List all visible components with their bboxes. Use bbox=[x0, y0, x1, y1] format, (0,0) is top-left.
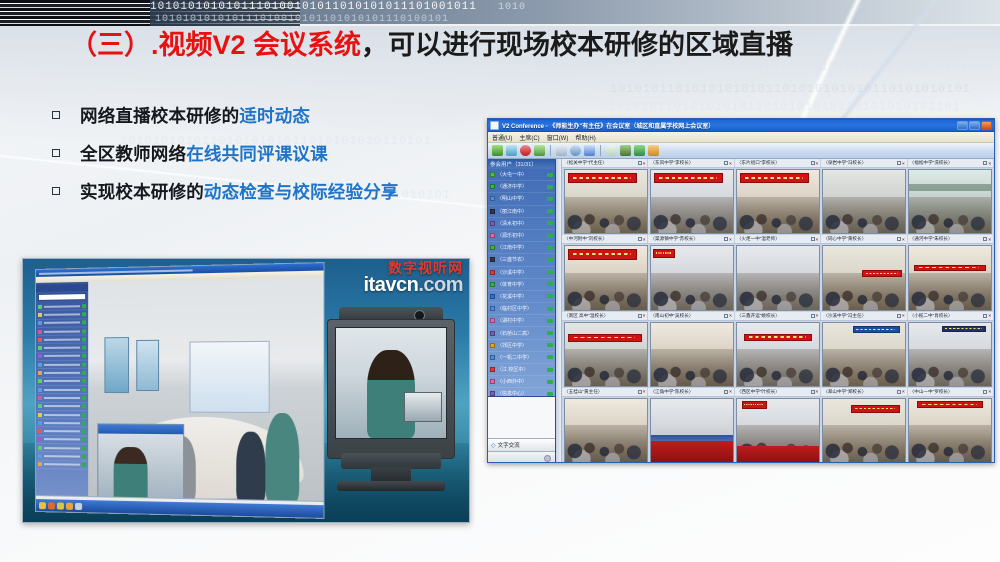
video-tab[interactable]: 〈小榄二中"肖校长〉× bbox=[908, 312, 994, 320]
photo-monitor-pip bbox=[404, 392, 442, 422]
list-item[interactable]: 〈三盛节农〉 bbox=[488, 254, 555, 266]
camera-icon bbox=[547, 355, 553, 359]
photo-poster-a bbox=[104, 337, 129, 393]
video-cell[interactable] bbox=[822, 398, 906, 463]
restore-icon[interactable] bbox=[811, 161, 815, 165]
video-cell[interactable] bbox=[822, 322, 906, 387]
list-item[interactable]: 〈清水初中〉 bbox=[488, 218, 555, 230]
video-cell[interactable] bbox=[650, 245, 734, 310]
square-bullet-icon bbox=[52, 187, 60, 195]
status-dot-icon bbox=[490, 270, 495, 275]
restore-icon[interactable] bbox=[983, 161, 987, 165]
list-item: 网络直播校本研修的适时动态 bbox=[52, 96, 522, 134]
square-bullet-icon bbox=[52, 111, 60, 119]
menu-item-chair[interactable]: 主席(C) bbox=[519, 133, 539, 142]
watermark-english: itavcn.com bbox=[364, 275, 464, 295]
list-item[interactable]: 〈源乐初中〉 bbox=[488, 230, 555, 242]
camera-icon bbox=[547, 294, 553, 298]
participant-label: 〈湖村中学〉 bbox=[497, 317, 545, 324]
restore-icon[interactable] bbox=[724, 161, 728, 165]
close-icon[interactable]: × bbox=[816, 313, 819, 318]
list-item[interactable]: 〈临村区中学〉 bbox=[488, 303, 555, 315]
list-item[interactable]: 〈大屯一中〉 bbox=[488, 169, 555, 181]
participant-label: 〈通济中学〉 bbox=[497, 183, 545, 190]
restore-icon[interactable] bbox=[724, 314, 728, 318]
minimize-icon[interactable] bbox=[957, 121, 968, 130]
cell-tab-strip[interactable]: 〈五桂山"黄主任〉× 〈江角中学"陈校长〉× 〈西区中学"叶校长〉× 〈翠山中学… bbox=[562, 388, 994, 397]
video-tab[interactable]: 〈南山初中"吴校长〉× bbox=[648, 312, 734, 320]
video-cell-row bbox=[562, 244, 994, 311]
slide-root: 1010101010101110100101011010101011101001… bbox=[0, 0, 1000, 562]
video-tab[interactable]: 〈江角中学"陈校长〉× bbox=[648, 388, 734, 396]
close-icon[interactable]: × bbox=[988, 313, 991, 318]
video-tab[interactable]: 〈中河附中"刘校长〉× bbox=[562, 235, 648, 243]
participant-label: 〈郊区中学〉 bbox=[497, 342, 545, 349]
zoom-icon[interactable] bbox=[570, 145, 581, 156]
info-icon[interactable] bbox=[584, 145, 595, 156]
participant-label: 〈江 校区中〉 bbox=[497, 366, 545, 373]
close-icon[interactable]: × bbox=[643, 313, 646, 318]
video-grid-wrapper: 〈松关中学"代主任〉× 〈东风中学"李校长〉× 〈东片组口"李校长〉× 〈泉岩中… bbox=[556, 159, 994, 463]
close-icon[interactable]: × bbox=[643, 237, 646, 242]
restore-icon[interactable] bbox=[638, 314, 642, 318]
status-dot-icon bbox=[490, 318, 495, 323]
photo-participant-panel bbox=[36, 282, 88, 514]
video-grid: 〈松关中学"代主任〉× 〈东风中学"李校长〉× 〈东片组口"李校长〉× 〈泉岩中… bbox=[562, 159, 994, 463]
camera-icon bbox=[547, 368, 553, 372]
camera-icon bbox=[547, 197, 553, 201]
participant-label: 〈一机二中学〉 bbox=[497, 354, 545, 361]
home-icon[interactable] bbox=[492, 145, 503, 156]
video-cell[interactable] bbox=[908, 245, 992, 310]
list-item[interactable]: 〈丽江南中〉 bbox=[488, 206, 555, 218]
restore-icon[interactable] bbox=[897, 314, 901, 318]
menu-item-help[interactable]: 帮助(H) bbox=[575, 133, 595, 142]
status-dot-icon bbox=[490, 184, 495, 189]
restore-icon[interactable] bbox=[638, 237, 642, 241]
camera-icon bbox=[547, 343, 553, 347]
camera-icon bbox=[547, 221, 553, 225]
video-cell[interactable] bbox=[736, 398, 820, 463]
video-cell[interactable] bbox=[736, 169, 820, 234]
status-indicator-icon bbox=[544, 455, 551, 462]
list-item[interactable]: 〈通济中学〉 bbox=[488, 181, 555, 193]
share-icon[interactable] bbox=[634, 145, 645, 156]
list-item[interactable]: 〈石桥山二高〉 bbox=[488, 327, 555, 339]
slide-title-dark: ，可以进行现场校本研修的区域直播 bbox=[361, 30, 793, 60]
status-dot-icon bbox=[490, 196, 495, 201]
app-body: 参会用户（31/31） 〈大屯一中〉 〈通济中学〉 〈明山中学〉 〈丽江南中〉 … bbox=[488, 159, 994, 463]
participant-label: 〈三盛节农〉 bbox=[497, 256, 545, 263]
bullet-plain: 网络直播校本研修的 bbox=[80, 106, 239, 126]
participant-label: 〈源乐初中〉 bbox=[497, 232, 545, 239]
camera-icon bbox=[547, 380, 553, 384]
camera-icon bbox=[547, 258, 553, 262]
status-dot-icon bbox=[490, 379, 495, 384]
video-cell[interactable] bbox=[736, 322, 820, 387]
camera-icon bbox=[547, 185, 553, 189]
window-title-bar[interactable]: V2 Conference - 《师能生办"有主任》在会议室（城区和直属学校网上… bbox=[488, 119, 994, 132]
camera-icon[interactable] bbox=[620, 145, 631, 156]
video-tab[interactable]: 〈东片组口"李校长〉× bbox=[735, 159, 821, 167]
video-cell[interactable] bbox=[564, 245, 648, 310]
photo-pip-window bbox=[97, 424, 184, 505]
participant-label: 〈大屯一中〉 bbox=[497, 171, 545, 178]
status-dot-icon bbox=[490, 245, 495, 250]
participant-label: 〈沙溪中学〉 bbox=[497, 269, 545, 276]
video-cell[interactable] bbox=[822, 245, 906, 310]
camera-icon bbox=[547, 246, 553, 250]
app-icon bbox=[490, 121, 499, 130]
camera-icon bbox=[547, 234, 553, 238]
watermark-site: itavcn bbox=[364, 274, 419, 296]
list-item[interactable]: 〈小西外中〉 bbox=[488, 376, 555, 388]
tab-text-chat-label: 文字交流 bbox=[498, 441, 520, 449]
grid-row: 〈南区 高中"温校长〉× 〈南山初中"吴校长〉× 〈三鑫开运"姚校长〉× 〈沙溪… bbox=[562, 312, 994, 388]
participant-label: 〈江南中学〉 bbox=[497, 244, 545, 251]
sidebar-footer bbox=[488, 451, 555, 463]
split-icon[interactable] bbox=[556, 145, 567, 156]
close-icon[interactable]: × bbox=[902, 313, 905, 318]
video-tab[interactable]: 〈渠源镇中学"苏校长〉× bbox=[648, 235, 734, 243]
video-cell[interactable] bbox=[564, 169, 648, 234]
menu-item-normal[interactable]: 普通(U) bbox=[492, 133, 512, 142]
video-cell-row bbox=[562, 321, 994, 388]
participants-header: 参会用户（31/31） bbox=[488, 159, 555, 169]
restore-icon[interactable] bbox=[811, 314, 815, 318]
restore-icon[interactable] bbox=[638, 390, 642, 394]
restore-icon[interactable] bbox=[983, 390, 987, 394]
background-stripe-block bbox=[0, 0, 300, 26]
photo-software-window bbox=[35, 262, 325, 519]
video-cell[interactable] bbox=[650, 169, 734, 234]
video-tab[interactable]: 〈东风中学"李校长〉× bbox=[648, 159, 734, 167]
close-icon[interactable]: × bbox=[902, 389, 905, 394]
list-item: 实现校本研修的动态检查与校际经验分享 bbox=[52, 172, 522, 210]
record-icon[interactable] bbox=[520, 145, 531, 156]
square-bullet-icon bbox=[52, 149, 60, 157]
close-icon[interactable]: × bbox=[643, 389, 646, 394]
bullet-plain: 实现校本研修的 bbox=[80, 182, 204, 202]
video-tab[interactable]: 〈五桂山"黄主任〉× bbox=[562, 388, 648, 396]
status-dot-icon bbox=[490, 221, 495, 226]
video-cell[interactable] bbox=[650, 398, 734, 463]
bullet-text: 实现校本研修的动态检查与校际经验分享 bbox=[80, 179, 399, 204]
settings-icon[interactable] bbox=[648, 145, 659, 156]
photo-monitor-foot bbox=[337, 481, 445, 491]
close-icon[interactable]: × bbox=[988, 389, 991, 394]
restore-icon[interactable] bbox=[897, 237, 901, 241]
close-icon[interactable] bbox=[981, 121, 992, 130]
bullet-plain: 全区教师网络 bbox=[80, 144, 186, 164]
toolbar-separator bbox=[600, 145, 601, 156]
close-icon[interactable]: × bbox=[729, 161, 732, 166]
bullet-text: 全区教师网络在线共同评课议课 bbox=[80, 141, 328, 166]
watermark-chinese: 数字视听网 bbox=[364, 261, 464, 275]
video-cell[interactable] bbox=[822, 169, 906, 234]
broadcast-icon[interactable] bbox=[506, 145, 517, 156]
v2-conference-window[interactable]: V2 Conference - 《师能生办"有主任》在会议室（城区和直属学校网上… bbox=[487, 118, 995, 463]
photo-poster-b bbox=[136, 339, 159, 391]
status-dot-icon bbox=[490, 343, 495, 348]
video-cell[interactable] bbox=[908, 169, 992, 234]
sidebar-empty-area bbox=[488, 396, 555, 438]
close-icon[interactable]: × bbox=[729, 313, 732, 318]
photo-window-body bbox=[36, 277, 324, 519]
camera-icon bbox=[547, 319, 553, 323]
status-dot-icon bbox=[490, 257, 495, 262]
video-tab[interactable]: 〈沙溪中学"冯主任〉× bbox=[821, 312, 907, 320]
list-item: 全区教师网络在线共同评课议课 bbox=[52, 134, 522, 172]
close-icon[interactable]: × bbox=[902, 161, 905, 166]
close-icon[interactable]: × bbox=[816, 389, 819, 394]
video-cell-row bbox=[562, 397, 994, 463]
list-item[interactable]: 〈江南中学〉 bbox=[488, 242, 555, 254]
status-dot-icon bbox=[490, 294, 495, 299]
photo-monitor: POLYCOM bbox=[327, 307, 455, 497]
watermark-tld: .com bbox=[418, 274, 463, 296]
participant-label: 〈临村区中学〉 bbox=[497, 305, 545, 312]
list-item[interactable]: 〈江 校区中〉 bbox=[488, 364, 555, 376]
list-item[interactable]: 〈一机二中学〉 bbox=[488, 352, 555, 364]
video-tab[interactable]: 〈西区中学"叶校长〉× bbox=[735, 388, 821, 396]
photo-projection-screen bbox=[189, 341, 270, 413]
restore-icon[interactable] bbox=[897, 390, 901, 394]
video-cell[interactable] bbox=[650, 322, 734, 387]
close-icon[interactable]: × bbox=[988, 161, 991, 166]
video-tab[interactable]: 〈三鑫开运"姚校长〉× bbox=[735, 312, 821, 320]
camera-icon bbox=[547, 331, 553, 335]
chevron-right-icon: ◇ bbox=[491, 442, 496, 449]
list-item[interactable]: 〈沙溪中学〉 bbox=[488, 267, 555, 279]
participant-label: 〈石桥山二高〉 bbox=[497, 330, 545, 337]
list-item[interactable]: 〈信息中心〉 bbox=[488, 388, 555, 396]
menu-item-window[interactable]: 窗口(W) bbox=[547, 133, 569, 142]
participants-list[interactable]: 〈大屯一中〉 〈通济中学〉 〈明山中学〉 〈丽江南中〉 〈清水初中〉 〈源乐初中… bbox=[488, 169, 555, 396]
grid-row: 〈中河附中"刘校长〉× 〈渠源镇中学"苏校长〉× 〈火炬一中"温老师〉× 〈同心… bbox=[562, 235, 994, 311]
restore-icon[interactable] bbox=[724, 237, 728, 241]
video-tab[interactable]: 〈翠山中学"郑校长〉× bbox=[821, 388, 907, 396]
video-tab[interactable]: 〈南区 高中"温校长〉× bbox=[562, 312, 648, 320]
close-icon[interactable]: × bbox=[816, 161, 819, 166]
slide-title-red: （三）.视频V2 会议系统 bbox=[70, 30, 361, 60]
status-dot-icon bbox=[490, 233, 495, 238]
list-item[interactable]: 〈花溪中学〉 bbox=[488, 291, 555, 303]
bullet-highlight: 适时动态 bbox=[239, 106, 310, 126]
list-item[interactable]: 〈体育中学〉 bbox=[488, 279, 555, 291]
restore-icon[interactable] bbox=[811, 237, 815, 241]
camera-icon bbox=[547, 173, 553, 177]
participant-label: 〈体育中学〉 bbox=[497, 281, 545, 288]
video-tab[interactable]: 〈福松中学"洗校长〉× bbox=[908, 159, 994, 167]
slide-title: （三）.视频V2 会议系统，可以进行现场校本研修的区域直播 bbox=[70, 30, 960, 61]
restore-icon[interactable] bbox=[897, 161, 901, 165]
cell-tab-strip[interactable]: 〈松关中学"代主任〉× 〈东风中学"李校长〉× 〈东片组口"李校长〉× 〈泉岩中… bbox=[562, 159, 994, 168]
close-icon[interactable]: × bbox=[902, 237, 905, 242]
close-icon[interactable]: × bbox=[729, 237, 732, 242]
watermark: 数字视听网 itavcn.com bbox=[364, 261, 464, 295]
bullet-text: 网络直播校本研修的适时动态 bbox=[80, 103, 310, 128]
bullet-list: 网络直播校本研修的适时动态 全区教师网络在线共同评课议课 实现校本研修的动态检查… bbox=[52, 96, 522, 210]
window-controls[interactable] bbox=[957, 121, 992, 130]
layout-icon[interactable] bbox=[534, 145, 545, 156]
video-cell[interactable] bbox=[564, 398, 648, 463]
status-dot-icon bbox=[490, 172, 495, 177]
bullet-highlight: 动态检查与校际经验分享 bbox=[204, 182, 399, 202]
grid-row: 〈五桂山"黄主任〉× 〈江角中学"陈校长〉× 〈西区中学"叶校长〉× 〈翠山中学… bbox=[562, 388, 994, 463]
participants-sidebar[interactable]: 参会用户（31/31） 〈大屯一中〉 〈通济中学〉 〈明山中学〉 〈丽江南中〉 … bbox=[488, 159, 556, 463]
toolbar[interactable] bbox=[488, 143, 994, 159]
close-icon[interactable]: × bbox=[643, 161, 646, 166]
restore-icon[interactable] bbox=[638, 161, 642, 165]
video-cell[interactable] bbox=[908, 322, 992, 387]
camera-icon bbox=[547, 270, 553, 274]
menu-bar[interactable]: 普通(U) 主席(C) 窗口(W) 帮助(H) bbox=[488, 132, 994, 143]
close-icon[interactable]: × bbox=[988, 237, 991, 242]
status-dot-icon bbox=[490, 331, 495, 336]
video-tab[interactable]: 〈通河中学"朱校长〉× bbox=[908, 235, 994, 243]
list-item[interactable]: 〈郊区中学〉 bbox=[488, 340, 555, 352]
list-item[interactable]: 〈明山中学〉 bbox=[488, 193, 555, 205]
video-cell-row bbox=[562, 168, 994, 235]
restore-icon[interactable] bbox=[724, 390, 728, 394]
video-tab[interactable]: 〈松关中学"代主任〉× bbox=[562, 159, 648, 167]
restore-icon[interactable] bbox=[983, 237, 987, 241]
maximize-icon[interactable] bbox=[969, 121, 980, 130]
photo-person bbox=[265, 413, 299, 505]
video-tab[interactable]: 〈泉岩中学"冯校长〉× bbox=[821, 159, 907, 167]
participant-label: 〈清水初中〉 bbox=[497, 220, 545, 227]
restore-icon[interactable] bbox=[811, 390, 815, 394]
status-dot-icon bbox=[490, 355, 495, 360]
status-dot-icon bbox=[490, 367, 495, 372]
photo-person bbox=[236, 432, 265, 504]
grid-row: 〈松关中学"代主任〉× 〈东风中学"李校长〉× 〈东片组口"李校长〉× 〈泉岩中… bbox=[562, 159, 994, 235]
restore-icon[interactable] bbox=[983, 314, 987, 318]
camera-icon bbox=[547, 307, 553, 311]
participant-label: 〈小西外中〉 bbox=[497, 378, 545, 385]
participant-label: 〈丽江南中〉 bbox=[497, 208, 545, 215]
bullet-highlight: 在线共同评课议课 bbox=[186, 144, 328, 164]
photo-monitor-screen bbox=[335, 327, 447, 439]
photo-main-video bbox=[88, 277, 323, 519]
participant-label: 〈明山中学〉 bbox=[497, 195, 545, 202]
video-cell[interactable] bbox=[908, 398, 992, 463]
close-icon[interactable]: × bbox=[816, 237, 819, 242]
list-item[interactable]: 〈湖村中学〉 bbox=[488, 315, 555, 327]
cell-tab-strip[interactable]: 〈中河附中"刘校长〉× 〈渠源镇中学"苏校长〉× 〈火炬一中"温老师〉× 〈同心… bbox=[562, 235, 994, 244]
status-dot-icon bbox=[490, 282, 495, 287]
videoconference-photo: POLYCOM 数字视听网 itavcn.com bbox=[22, 258, 470, 523]
video-tab[interactable]: 〈同心中学"黄校长〉× bbox=[821, 235, 907, 243]
camera-icon bbox=[547, 282, 553, 286]
link-icon[interactable] bbox=[606, 145, 617, 156]
video-cell[interactable] bbox=[564, 322, 648, 387]
toolbar-separator bbox=[550, 145, 551, 156]
status-dot-icon bbox=[490, 306, 495, 311]
video-tab[interactable]: 〈火炬一中"温老师〉× bbox=[735, 235, 821, 243]
window-title: V2 Conference - 《师能生办"有主任》在会议室（城区和直属学校网上… bbox=[502, 121, 957, 130]
tab-text-chat[interactable]: ◇ 文字交流 bbox=[488, 438, 555, 451]
video-cell[interactable] bbox=[736, 245, 820, 310]
status-dot-icon bbox=[490, 209, 495, 214]
camera-icon bbox=[547, 209, 553, 213]
video-tab[interactable]: 〈中山一中"罗校长〉× bbox=[908, 388, 994, 396]
close-icon[interactable]: × bbox=[729, 389, 732, 394]
cell-tab-strip[interactable]: 〈南区 高中"温校长〉× 〈南山初中"吴校长〉× 〈三鑫开运"姚校长〉× 〈沙溪… bbox=[562, 312, 994, 321]
participant-label: 〈花溪中学〉 bbox=[497, 293, 545, 300]
